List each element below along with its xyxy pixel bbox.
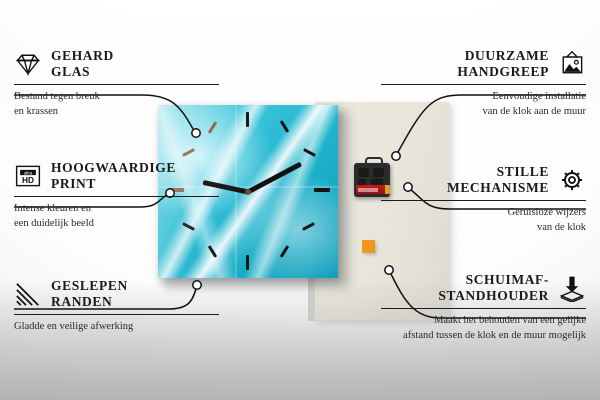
clock-center-cap xyxy=(245,189,251,195)
feature-title: STILLE MECHANISME xyxy=(447,164,549,196)
feature-divider xyxy=(381,200,586,202)
feature-header: GESLEPEN RANDEN xyxy=(14,278,219,314)
ultra-hd-icon: ultra HD xyxy=(14,162,42,190)
hour-tick xyxy=(302,222,315,231)
feature-divider xyxy=(14,314,219,316)
feature-header: SCHUIMAF- STANDHOUDER xyxy=(381,272,586,308)
feature-divider xyxy=(14,196,219,198)
feature-duurzame-handgreep: DUURZAME HANDGREEP Eenvoudige installati… xyxy=(381,48,586,119)
hour-tick xyxy=(303,148,316,157)
feature-title: HOOGWAARDIGE PRINT xyxy=(51,160,176,192)
hour-tick xyxy=(280,120,289,133)
hour-tick xyxy=(208,245,217,258)
feature-divider xyxy=(381,308,586,310)
feature-description: Maakt het behouden van een gelijke afsta… xyxy=(381,314,586,342)
mechanism-slot xyxy=(358,168,369,177)
foam-spacer-side xyxy=(375,242,379,255)
hour-tick xyxy=(246,112,249,127)
feature-description: Gladde en veilige afwerking xyxy=(14,320,219,334)
feature-description: Eenvoudige installatie van de klok aan d… xyxy=(381,90,586,118)
feature-title: GEHARD GLAS xyxy=(51,48,114,80)
hour-tick xyxy=(208,121,217,134)
feature-hoogwaardige-print: ultra HD HOOGWAARDIGE PRINT Intense kleu… xyxy=(14,160,219,231)
feature-divider xyxy=(14,84,219,86)
feature-geslepen-randen: GESLEPEN RANDEN Gladde en veilige afwerk… xyxy=(14,278,219,335)
feature-description: Geruisloze wijzers van de klok xyxy=(381,206,586,234)
feature-header: STILLE MECHANISME xyxy=(381,164,586,200)
hour-tick xyxy=(182,148,195,157)
feature-stille-mechanisme: STILLE MECHANISME Geruisloze wijzers van… xyxy=(381,164,586,235)
feature-header: GEHARD GLAS xyxy=(14,48,219,84)
feature-header: ultra HD HOOGWAARDIGE PRINT xyxy=(14,160,219,196)
feature-description: Intense kleuren en een duidelijk beeld xyxy=(14,202,219,230)
feature-description: Bestand tegen breuk en krassen xyxy=(14,90,219,118)
feature-divider xyxy=(381,84,586,86)
picture-frame-hanging-icon xyxy=(558,50,586,78)
foam-spacer xyxy=(362,240,375,253)
battery-label xyxy=(358,188,378,192)
infographic-canvas: GEHARD GLAS Bestand tegen breuk en krass… xyxy=(0,0,600,400)
diamond-icon xyxy=(14,50,42,78)
hour-tick xyxy=(280,245,289,258)
hour-tick xyxy=(246,255,249,270)
feature-schuimafstandhouder: SCHUIMAF- STANDHOUDER Maakt het behouden… xyxy=(381,272,586,343)
feature-title: GESLEPEN RANDEN xyxy=(51,278,128,310)
feature-header: DUURZAME HANDGREEP xyxy=(381,48,586,84)
press-down-pad-icon xyxy=(558,274,586,302)
minute-hand xyxy=(247,161,302,194)
feature-title: SCHUIMAF- STANDHOUDER xyxy=(438,272,549,304)
hour-tick xyxy=(314,188,330,192)
beveled-edges-icon xyxy=(14,280,42,308)
feature-gehard-glas: GEHARD GLAS Bestand tegen breuk en krass… xyxy=(14,48,219,119)
feature-title: DUURZAME HANDGREEP xyxy=(457,48,549,80)
svg-text:HD: HD xyxy=(22,175,34,185)
gear-icon xyxy=(558,166,586,194)
